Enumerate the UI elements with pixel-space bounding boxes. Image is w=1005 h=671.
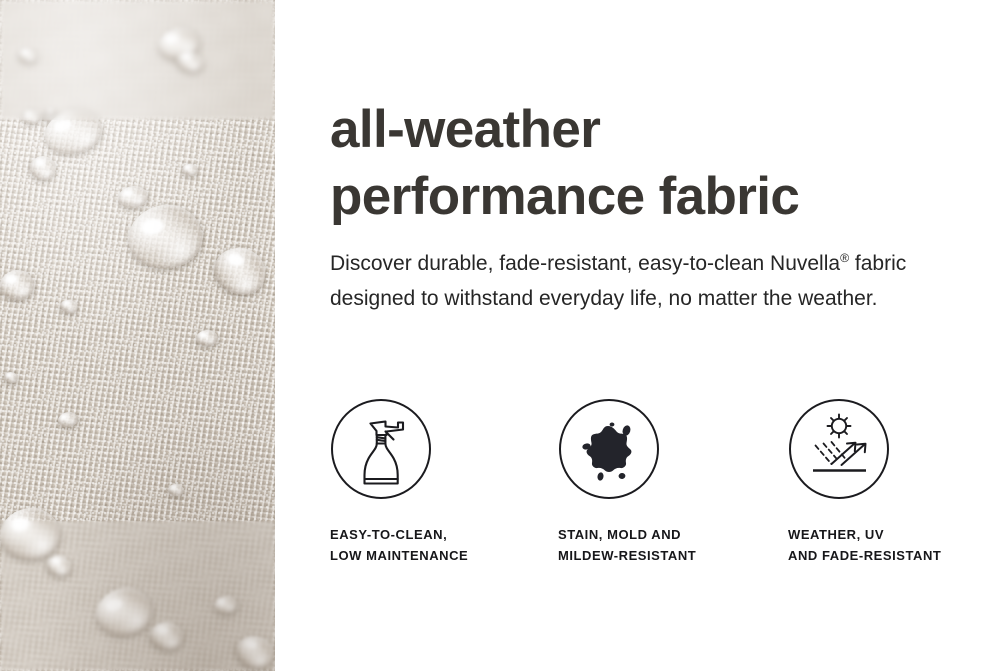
sun-uv-reflect-icon: [788, 398, 890, 500]
hero-subcopy: Discover durable, fade-resistant, easy-t…: [330, 246, 950, 316]
fabric-photo-blur-bottom: [0, 521, 275, 671]
spray-bottle-icon: [330, 398, 432, 500]
feature-item-easy-to-clean: EASY-TO-CLEAN, LOW MAINTENANCE: [330, 398, 540, 566]
fabric-photo-panel: [0, 0, 275, 671]
headline-line-2: performance fabric: [330, 167, 799, 226]
feature-item-weather-uv-resistant: WEATHER, UV AND FADE-RESISTANT: [788, 398, 998, 566]
headline-line-1: all-weather: [330, 100, 600, 159]
subcopy-text-before: Discover durable, fade-resistant, easy-t…: [330, 252, 840, 275]
page-title: all-weatherperformance fabric: [330, 96, 990, 230]
feature-caption: EASY-TO-CLEAN, LOW MAINTENANCE: [330, 524, 540, 566]
promo-banner: all-weatherperformance fabric Discover d…: [0, 0, 1005, 671]
feature-caption: STAIN, MOLD AND MILDEW-RESISTANT: [558, 524, 768, 566]
feature-caption: WEATHER, UV AND FADE-RESISTANT: [788, 524, 998, 566]
feature-item-stain-resistant: STAIN, MOLD AND MILDEW-RESISTANT: [558, 398, 768, 566]
registered-trademark-mark: ®: [840, 251, 849, 265]
stain-splat-icon: [558, 398, 660, 500]
fabric-photo-blur-top: [0, 0, 275, 120]
content-column: all-weatherperformance fabric Discover d…: [330, 0, 990, 671]
